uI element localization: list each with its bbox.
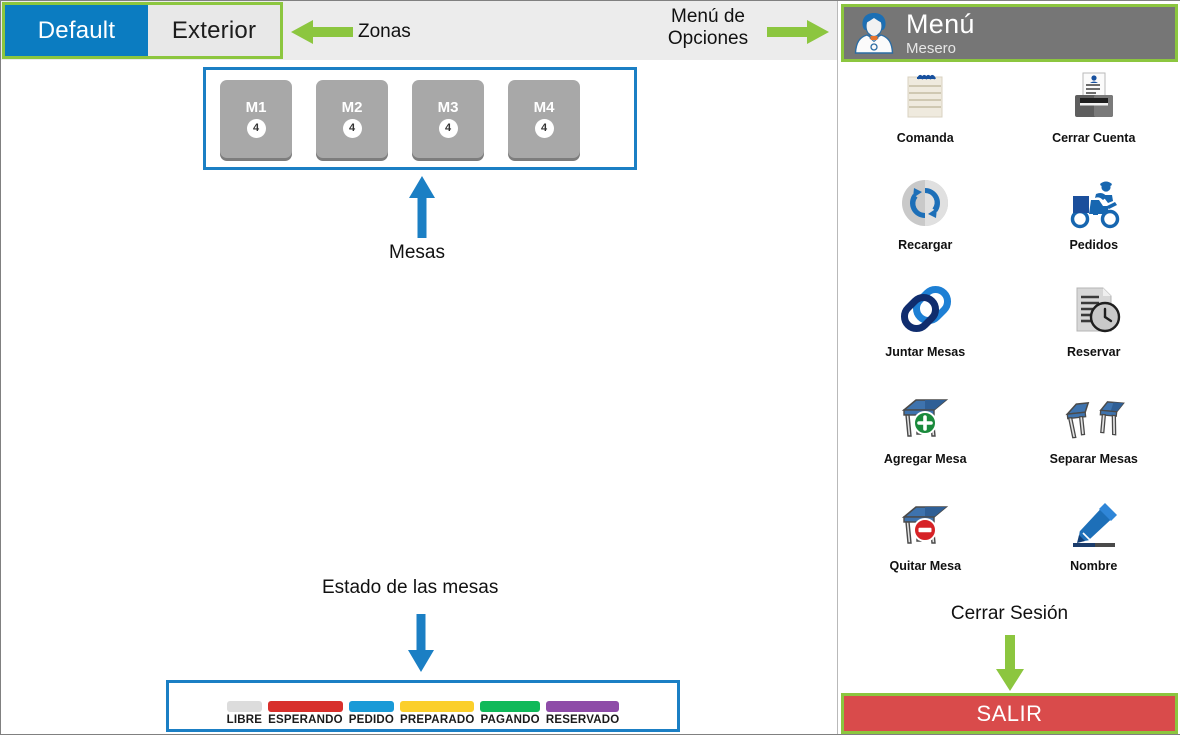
menu-item-label: Comanda xyxy=(897,131,954,145)
menu-item-label: Agregar Mesa xyxy=(884,452,967,466)
table-label: M3 xyxy=(438,100,459,115)
table-seat-count-badge: 4 xyxy=(343,119,362,138)
legend-swatch xyxy=(349,701,394,712)
menu-item-label: Juntar Mesas xyxy=(885,345,965,359)
legend-swatch xyxy=(480,701,539,712)
options-menu-annotation-label: Menú de Opciones xyxy=(659,6,757,50)
options-menu-pane: Menú Mesero xyxy=(837,1,1180,734)
table-button-m3[interactable]: M3 4 xyxy=(412,80,484,158)
table-label: M1 xyxy=(246,100,267,115)
estado-mesas-annotation-label: Estado de las mesas xyxy=(322,577,498,599)
legend-label: PEDIDO xyxy=(349,714,394,726)
salir-button-label: SALIR xyxy=(976,701,1042,727)
legend-swatch xyxy=(227,701,263,712)
menu-title-block: Menú Mesero xyxy=(906,11,975,56)
legend-label: ESPERANDO xyxy=(268,714,343,726)
menu-options-grid: Comanda xyxy=(841,67,1178,588)
menu-item-reservar[interactable]: Reservar xyxy=(1010,281,1179,374)
chain-link-icon xyxy=(894,281,956,343)
menu-item-label: Separar Mesas xyxy=(1050,452,1138,466)
menu-item-label: Recargar xyxy=(898,238,952,252)
table-button-m4[interactable]: M4 4 xyxy=(508,80,580,158)
zonas-annotation-label: Zonas xyxy=(358,21,411,43)
menu-title: Menú xyxy=(906,11,975,38)
table-button-m2[interactable]: M2 4 xyxy=(316,80,388,158)
legend-item-libre: LIBRE xyxy=(227,701,263,726)
legend-swatch xyxy=(400,701,474,712)
table-split-icon xyxy=(1063,388,1125,450)
table-minus-icon xyxy=(894,495,956,557)
menu-subtitle-role: Mesero xyxy=(906,41,975,56)
status-legend-row: LIBRE ESPERANDO PEDIDO PREPARADO PAGANDO xyxy=(169,683,677,729)
zones-toolbar: Default Exterior Zonas Menú de Opciones xyxy=(1,1,837,60)
menu-item-agregar-mesa[interactable]: Agregar Mesa xyxy=(841,388,1010,481)
legend-label: RESERVADO xyxy=(546,714,620,726)
legend-label: PAGANDO xyxy=(480,714,539,726)
menu-item-recargar[interactable]: Recargar xyxy=(841,174,1010,267)
menu-item-label: Reservar xyxy=(1067,345,1121,359)
opciones-arrow-right-icon xyxy=(767,18,829,46)
menu-item-juntar-mesas[interactable]: Juntar Mesas xyxy=(841,281,1010,374)
legend-item-pedido: PEDIDO xyxy=(349,701,394,726)
legend-label: LIBRE xyxy=(227,714,263,726)
zone-tab-exterior[interactable]: Exterior xyxy=(148,5,280,56)
menu-item-label: Quitar Mesa xyxy=(889,559,961,573)
menu-header: Menú Mesero xyxy=(841,4,1178,62)
legend-swatch xyxy=(268,701,343,712)
salir-arrow-down-icon xyxy=(996,635,1024,691)
zone-tab-group[interactable]: Default Exterior xyxy=(2,2,283,59)
zone-tab-default[interactable]: Default xyxy=(5,5,148,56)
legend-item-esperando: ESPERANDO xyxy=(268,701,343,726)
cerrar-sesion-annotation-label: Cerrar Sesión xyxy=(838,603,1180,625)
menu-item-label: Pedidos xyxy=(1069,238,1118,252)
waiter-avatar-icon xyxy=(850,9,898,57)
table-seat-count-badge: 4 xyxy=(439,119,458,138)
menu-item-label: Cerrar Cuenta xyxy=(1052,131,1135,145)
menu-item-label: Nombre xyxy=(1070,559,1117,573)
legend-item-reservado: RESERVADO xyxy=(546,701,620,726)
table-button-m1[interactable]: M1 4 xyxy=(220,80,292,158)
table-seat-count-badge: 4 xyxy=(535,119,554,138)
menu-item-quitar-mesa[interactable]: Quitar Mesa xyxy=(841,495,1010,588)
estado-arrow-down-icon xyxy=(408,614,434,672)
legend-item-preparado: PREPARADO xyxy=(400,701,474,726)
delivery-scooter-icon xyxy=(1063,174,1125,236)
menu-item-separar-mesas[interactable]: Separar Mesas xyxy=(1010,388,1179,481)
document-clock-icon xyxy=(1063,281,1125,343)
status-legend-box: LIBRE ESPERANDO PEDIDO PREPARADO PAGANDO xyxy=(166,680,680,732)
pencil-icon xyxy=(1063,495,1125,557)
zonas-arrow-left-icon xyxy=(291,18,353,46)
pos-table-map-screen: Default Exterior Zonas Menú de Opciones … xyxy=(0,0,1180,735)
table-label: M2 xyxy=(342,100,363,115)
table-plus-icon xyxy=(894,388,956,450)
printer-receipt-icon xyxy=(1063,67,1125,129)
table-label: M4 xyxy=(534,100,555,115)
refresh-circle-icon xyxy=(894,174,956,236)
mesas-arrow-up-icon xyxy=(409,176,435,238)
tables-highlight-box: M1 4 M2 4 M3 4 M4 4 xyxy=(203,67,637,170)
menu-item-cerrar-cuenta[interactable]: Cerrar Cuenta xyxy=(1010,67,1179,160)
table-seat-count-badge: 4 xyxy=(247,119,266,138)
zone-tab-exterior-label: Exterior xyxy=(172,17,256,45)
floor-plan-pane: Default Exterior Zonas Menú de Opciones … xyxy=(1,1,837,734)
mesas-annotation-label: Mesas xyxy=(389,242,445,264)
zone-tab-default-label: Default xyxy=(38,17,115,45)
menu-item-nombre[interactable]: Nombre xyxy=(1010,495,1179,588)
menu-item-pedidos[interactable]: Pedidos xyxy=(1010,174,1179,267)
notepad-icon xyxy=(894,67,956,129)
legend-swatch xyxy=(546,701,620,712)
legend-label: PREPARADO xyxy=(400,714,474,726)
salir-button[interactable]: SALIR xyxy=(841,693,1178,734)
menu-item-comanda[interactable]: Comanda xyxy=(841,67,1010,160)
tables-row: M1 4 M2 4 M3 4 M4 4 xyxy=(206,70,634,167)
legend-item-pagando: PAGANDO xyxy=(480,701,539,726)
